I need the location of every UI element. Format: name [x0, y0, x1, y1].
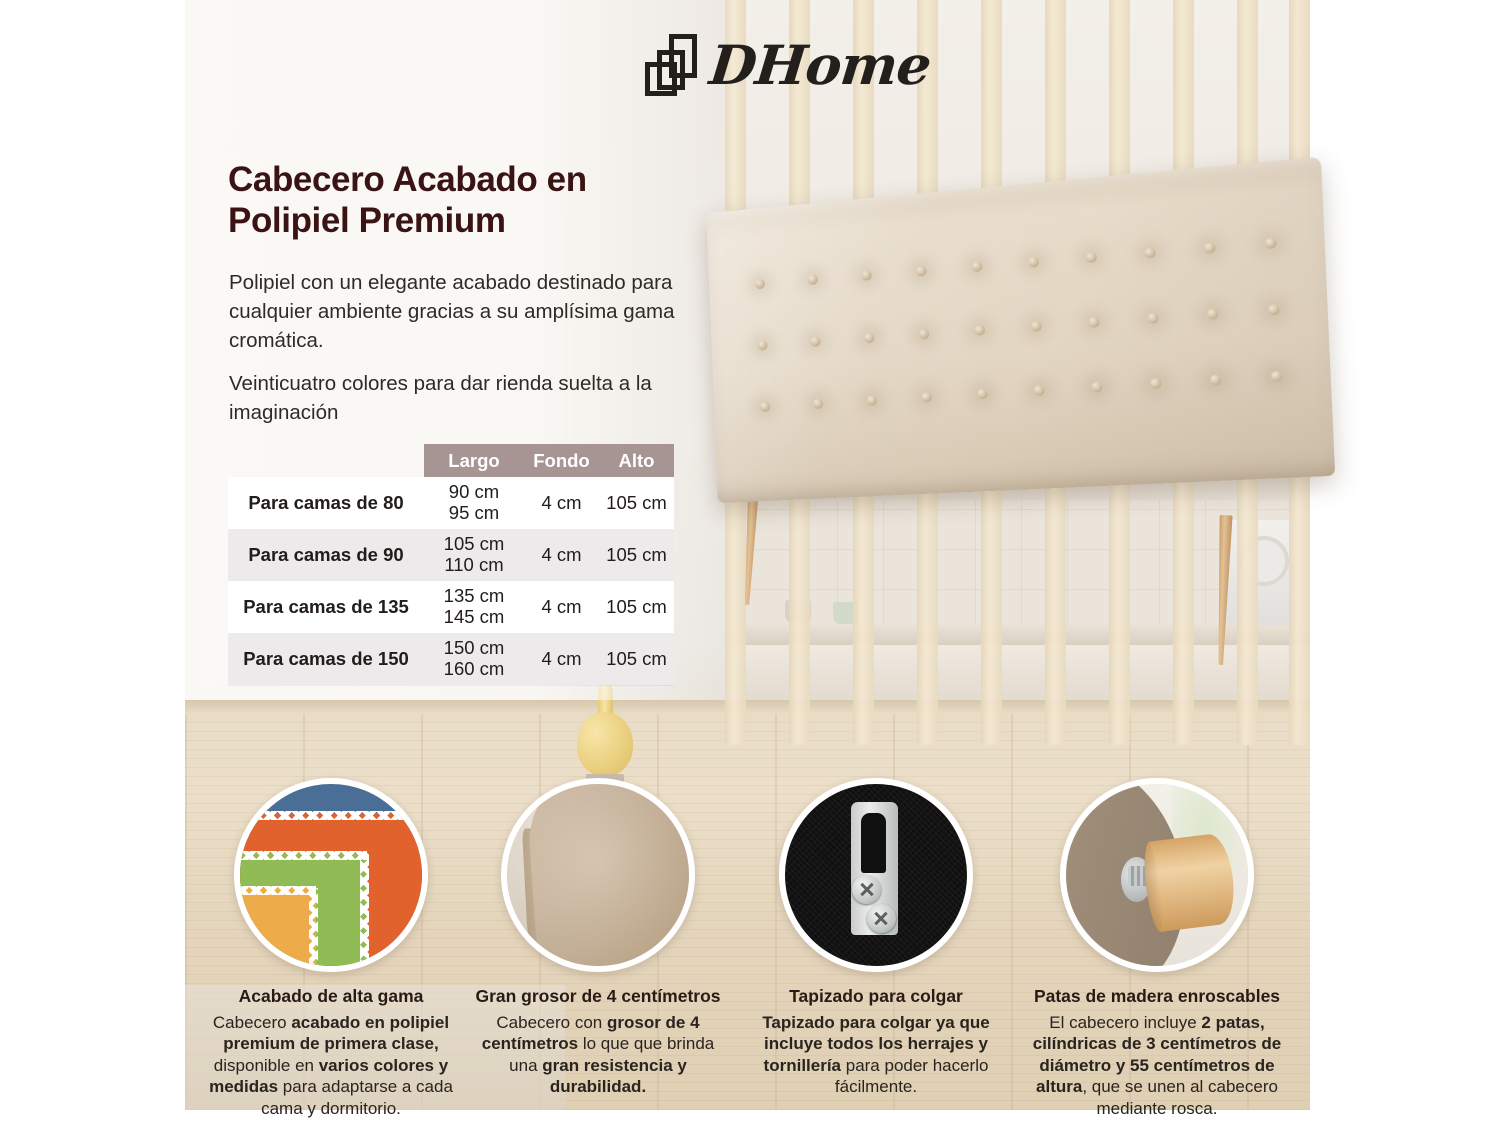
largo-value-1: 105 cm [424, 534, 524, 555]
specifications-table: Largo Fondo Alto Para camas de 80 90 cm … [228, 444, 674, 685]
largo-value-2: 145 cm [424, 607, 524, 628]
feature-body: Cabecero acabado en polipiel premium de … [200, 1012, 462, 1119]
feature-title: Tapizado para colgar [745, 986, 1007, 1007]
intro-paragraph-2: Veinticuatro colores para dar rienda sue… [229, 369, 684, 427]
feature-title: Gran grosor de 4 centímetros [467, 986, 729, 1007]
cell-largo: 105 cm 110 cm [424, 534, 524, 575]
table-row: Para camas de 135 135 cm 145 cm 4 cm 105… [228, 581, 674, 633]
cell-fondo: 4 cm [524, 648, 599, 670]
table-row: Para camas de 150 150 cm 160 cm 4 cm 105… [228, 633, 674, 685]
feature-body: Tapizado para colgar ya que incluye todo… [745, 1012, 1007, 1098]
largo-value-2: 110 cm [424, 555, 524, 576]
largo-value-2: 95 cm [424, 503, 524, 524]
feature-body: El cabecero incluye 2 patas, cilíndricas… [1026, 1012, 1288, 1119]
title-line-1: Cabecero Acabado en [228, 160, 698, 201]
largo-value-2: 160 cm [424, 659, 524, 680]
cell-alto: 105 cm [599, 544, 674, 566]
cell-largo: 135 cm 145 cm [424, 586, 524, 627]
cell-fondo: 4 cm [524, 492, 599, 514]
feature-title: Patas de madera enroscables [1026, 986, 1288, 1007]
features-row: Acabado de alta gama Cabecero acabado en… [200, 778, 1310, 1108]
column-header-fondo: Fondo [524, 450, 599, 472]
title-line-2: Polipiel Premium [228, 201, 698, 242]
table-header-row: Largo Fondo Alto [228, 444, 674, 477]
feature-body: Cabecero con grosor de 4 centímetros lo … [467, 1012, 729, 1098]
brand-logo: DHome [645, 33, 930, 97]
cell-alto: 105 cm [599, 492, 674, 514]
screw-in-wooden-leg-icon [1060, 778, 1254, 972]
headboard-leg-right [1214, 515, 1232, 665]
brand-name: DHome [707, 33, 934, 97]
table-row: Para camas de 80 90 cm 95 cm 4 cm 105 cm [228, 477, 674, 529]
cell-alto: 105 cm [599, 596, 674, 618]
table-row: Para camas de 90 105 cm 110 cm 4 cm 105 … [228, 529, 674, 581]
largo-value-1: 90 cm [424, 482, 524, 503]
feature-title: Acabado de alta gama [200, 986, 462, 1007]
row-label: Para camas de 135 [228, 596, 424, 618]
intro-paragraph-1: Polipiel con un elegante acabado destina… [229, 268, 684, 355]
largo-value-1: 135 cm [424, 586, 524, 607]
column-header-largo: Largo [424, 450, 524, 472]
cell-fondo: 4 cm [524, 596, 599, 618]
infographic-canvas: DHome Cabecero Acabado en Polipiel Premi… [0, 0, 1500, 1125]
cell-fondo: 4 cm [524, 544, 599, 566]
feature-item: Acabado de alta gama Cabecero acabado en… [200, 778, 462, 1119]
feature-item: Gran grosor de 4 centímetros Cabecero co… [467, 778, 729, 1098]
feature-item: Patas de madera enroscables El cabecero … [1026, 778, 1288, 1119]
column-header-alto: Alto [599, 450, 674, 472]
fabric-swatches-icon [234, 778, 428, 972]
cell-alto: 105 cm [599, 648, 674, 670]
intro-text: Polipiel con un elegante acabado destina… [229, 268, 684, 428]
phillips-screw-icon [867, 904, 896, 933]
overlapping-squares-icon [645, 34, 697, 96]
feature-item: Tapizado para colgar Tapizado para colga… [745, 778, 1007, 1098]
headboard-panel [706, 157, 1335, 503]
tufted-headboard-photo [700, 195, 1310, 675]
cell-largo: 90 cm 95 cm [424, 482, 524, 523]
upholstery-thickness-icon [501, 778, 695, 972]
largo-value-1: 150 cm [424, 638, 524, 659]
row-label: Para camas de 80 [228, 492, 424, 514]
cell-largo: 150 cm 160 cm [424, 638, 524, 679]
row-label: Para camas de 150 [228, 648, 424, 670]
wall-bracket-icon [779, 778, 973, 972]
page-title: Cabecero Acabado en Polipiel Premium [228, 160, 698, 242]
row-label: Para camas de 90 [228, 544, 424, 566]
